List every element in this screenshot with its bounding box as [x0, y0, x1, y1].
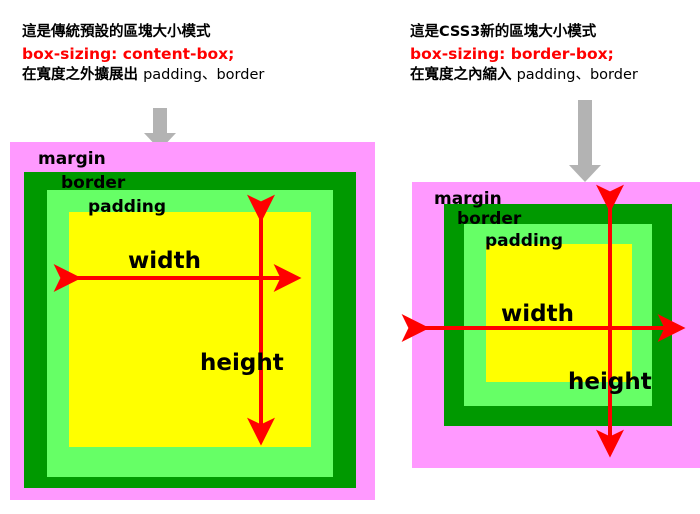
down-arrow-icon [565, 100, 605, 184]
border-box-caption: 這是CSS3新的區塊大小模式 box-sizing: border-box; 在… [410, 22, 638, 85]
caption-line-css-declaration: box-sizing: content-box; [22, 43, 264, 65]
arrow-head [569, 165, 601, 182]
caption-line-behavior: 在寬度之內縮入 padding、border [410, 65, 638, 86]
margin-label: margin [434, 191, 502, 208]
caption-behavior-properties: padding、border [143, 67, 264, 83]
height-measure-label: height [568, 371, 652, 394]
margin-label: margin [38, 151, 106, 168]
content-box-diagram: margin border padding [10, 142, 375, 500]
padding-label: padding [88, 199, 166, 216]
width-measure-label: width [128, 250, 201, 273]
caption-line-css-declaration: box-sizing: border-box; [410, 43, 638, 65]
border-label: border [457, 211, 521, 228]
width-measure-label: width [501, 303, 574, 326]
height-measure-label: height [200, 352, 284, 375]
arrow-shaft [153, 108, 167, 134]
border-label: border [61, 175, 125, 192]
padding-label: padding [485, 233, 563, 250]
caption-behavior-prefix: 在寬度之內縮入 [410, 67, 512, 83]
content-box-caption: 這是傳統預設的區塊大小模式 box-sizing: content-box; 在… [22, 22, 264, 85]
caption-behavior-properties: padding、border [517, 67, 638, 83]
caption-line-description: 這是CSS3新的區塊大小模式 [410, 22, 638, 43]
arrow-shaft [578, 100, 592, 166]
caption-line-description: 這是傳統預設的區塊大小模式 [22, 22, 264, 43]
caption-line-behavior: 在寬度之外擴展出 padding、border [22, 65, 264, 86]
caption-behavior-prefix: 在寬度之外擴展出 [22, 67, 138, 83]
